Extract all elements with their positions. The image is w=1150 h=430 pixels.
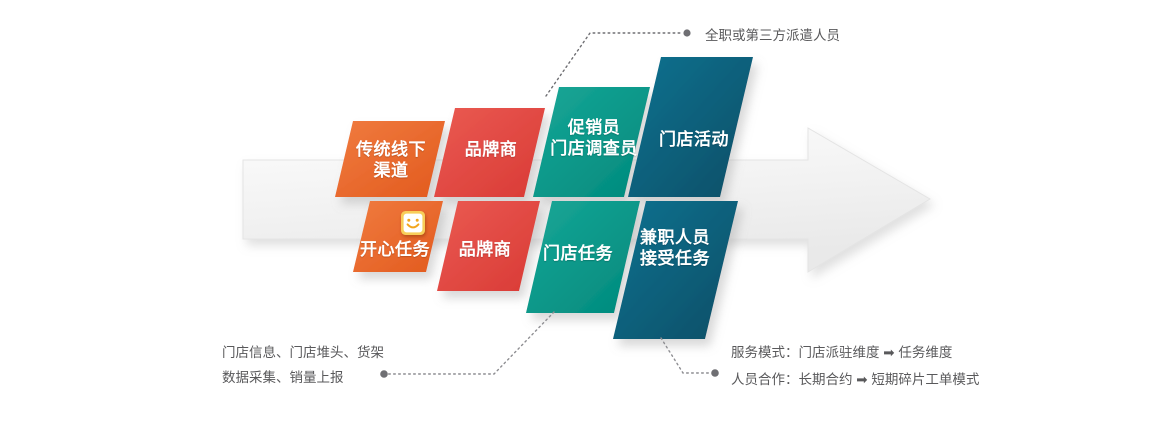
annotation-bottom-right-line2: 人员合作：长期合约 ➡ 短期碎片工单模式 [731,368,979,393]
label-brand-owner-top: 品牌商 [450,140,532,161]
annotation-bottom-left: 门店信息、门店堆头、货架 数据采集、销量上报 [222,341,384,391]
label-parttime-accept-task: 兼职人员 接受任务 [628,228,722,269]
label-traditional-channel: 传统线下 渠道 [348,140,434,181]
diagram-text-layer: 传统线下 渠道 品牌商 促销员 门店调查员 门店活动 开心任务 品牌商 门店任务… [0,0,1150,430]
label-happy-task: 开心任务 [357,240,433,261]
annotation-bottom-right-line1: 服务模式：门店派驻维度 ➡ 任务维度 [731,341,952,366]
annotation-top-right: 全职或第三方派遣人员 [705,24,840,49]
label-store-task: 门店任务 [534,244,622,265]
label-store-activity: 门店活动 [648,130,740,151]
label-promoter-surveyor: 促销员 门店调查员 [542,118,646,159]
diagram-canvas: 传统线下 渠道 品牌商 促销员 门店调查员 门店活动 开心任务 品牌商 门店任务… [0,0,1150,430]
label-brand-owner-bottom: 品牌商 [444,240,526,261]
